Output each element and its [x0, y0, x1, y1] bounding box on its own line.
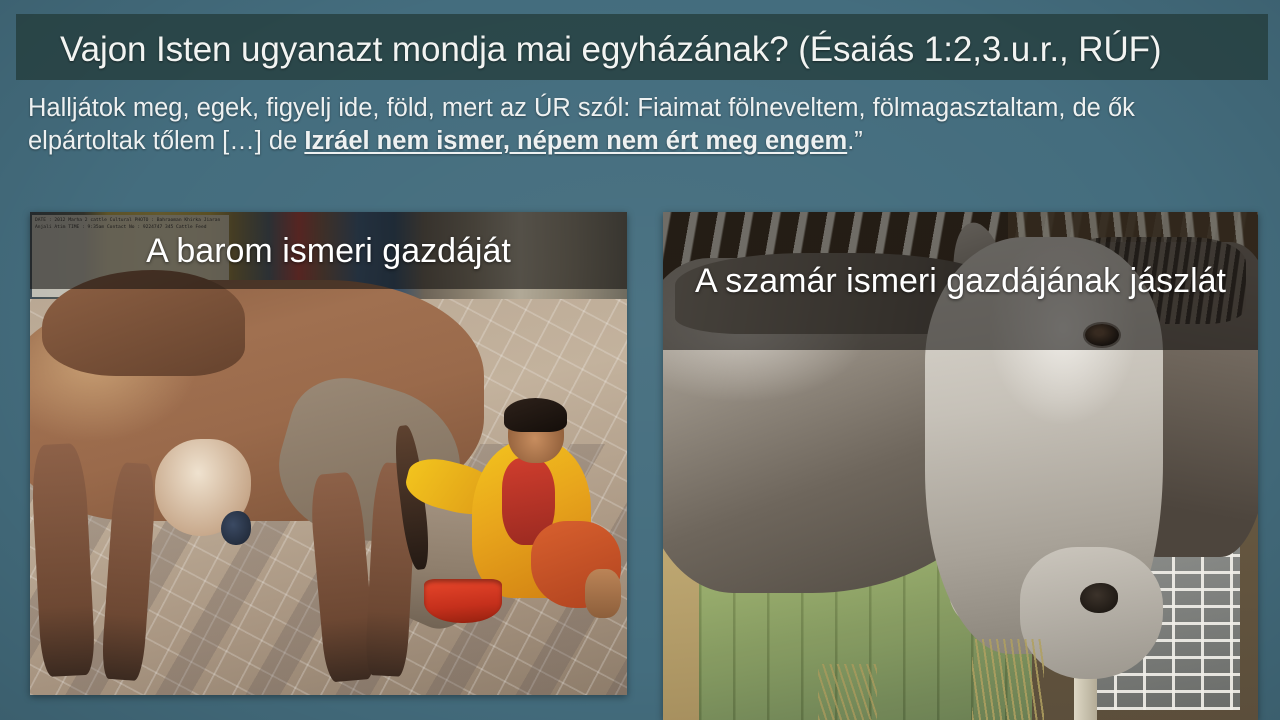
scripture-text-emphasis: Izráel nem ismer, népem nem ért meg enge… [304, 127, 847, 155]
hay-strands [972, 639, 1043, 720]
scripture-text-tail: .” [847, 127, 863, 155]
presentation-slide: Vajon Isten ugyanazt mondja mai egyházán… [0, 0, 1280, 720]
scripture-paragraph: Halljátok meg, egek, figyelj ide, föld, … [28, 92, 1243, 158]
red-feeding-bowl [424, 579, 502, 622]
pigeon [221, 511, 251, 545]
woman-hair [504, 398, 567, 432]
cow-photo[interactable]: DATE : 2012 Marha 2 cattle Cultural PHOT… [30, 212, 627, 695]
woman-leg [585, 569, 621, 617]
donkey-photo-caption: A szamár ismeri gazdájának jászlát [663, 212, 1258, 350]
title-banner: Vajon Isten ugyanazt mondja mai egyházán… [16, 14, 1268, 80]
grey-donkey-nostril [1080, 583, 1119, 613]
hay-strands-secondary [818, 664, 878, 720]
cow-photo-caption: A barom ismeri gazdáját [30, 212, 627, 289]
donkey-photo[interactable]: A szamár ismeri gazdájának jászlát [663, 212, 1258, 720]
page-title: Vajon Isten ugyanazt mondja mai egyházán… [60, 30, 1270, 70]
